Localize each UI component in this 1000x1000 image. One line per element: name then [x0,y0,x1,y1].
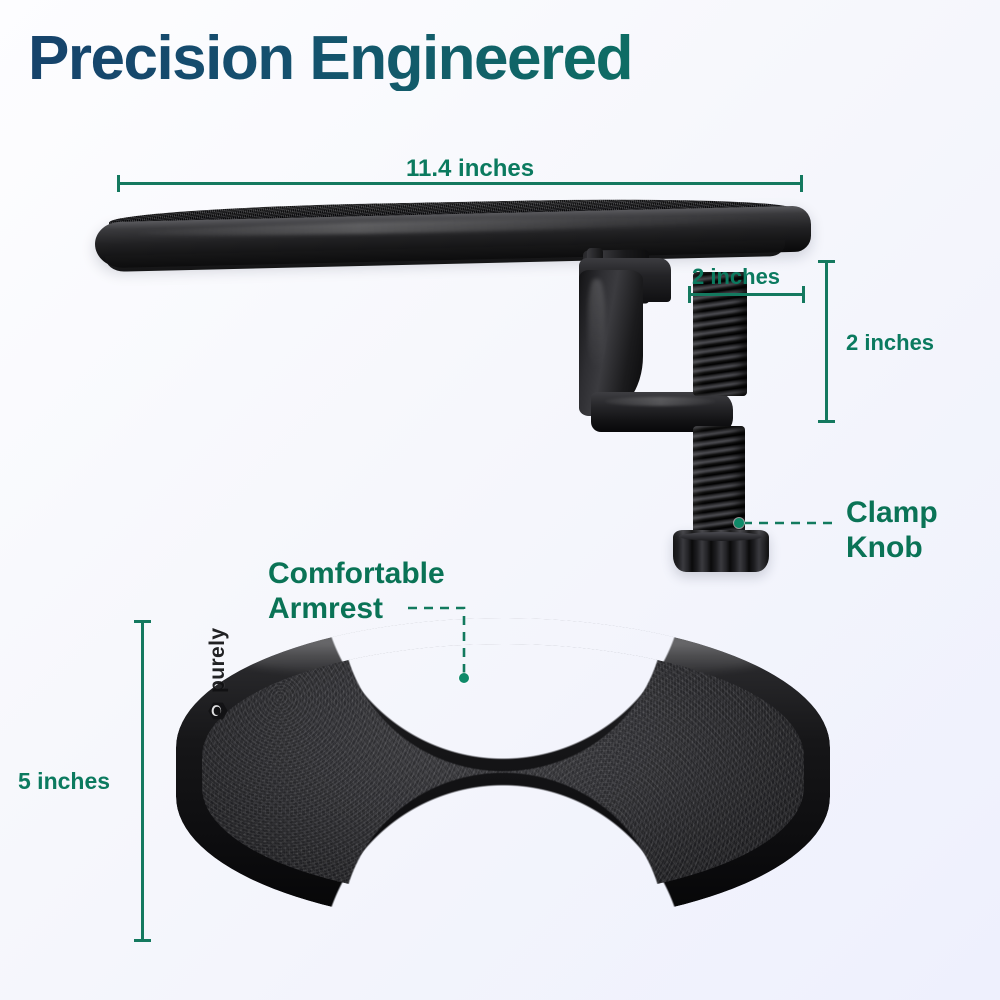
dimension-label-clamp-width: 2 inches [692,264,780,290]
leader-dot-clamp-knob [734,518,744,528]
dimension-line-clamp-width [688,293,805,296]
dimension-label-tray-width: 11.4 inches [406,155,534,183]
leader-line-clamp-knob [735,500,845,540]
brand-name: purely [206,628,230,693]
dimension-line-pad-depth [141,620,144,942]
dimension-line-tray-width [117,182,803,185]
page-title: Precision Engineered [28,26,928,91]
callout-label-clamp-knob: Clamp Knob [846,496,938,566]
dimension-label-clamp-height: 2 inches [846,330,934,356]
product-infographic: Precision Engineered purely 11.4 inches … [0,0,1000,1000]
armrest-pad: purely [176,618,830,926]
armrest-pad-leather [202,644,804,900]
brand-logo: purely [206,688,230,722]
threaded-screw-upper [693,272,747,396]
purely-hexagon-icon [207,700,229,722]
callout-label-comfortable-armrest: Comfortable Armrest [268,557,445,627]
leader-dot-comfortable-armrest [459,673,469,683]
dimension-line-clamp-height [825,260,828,423]
armrest-tray-assembly [95,196,835,596]
dimension-label-pad-depth: 5 inches [18,768,110,795]
